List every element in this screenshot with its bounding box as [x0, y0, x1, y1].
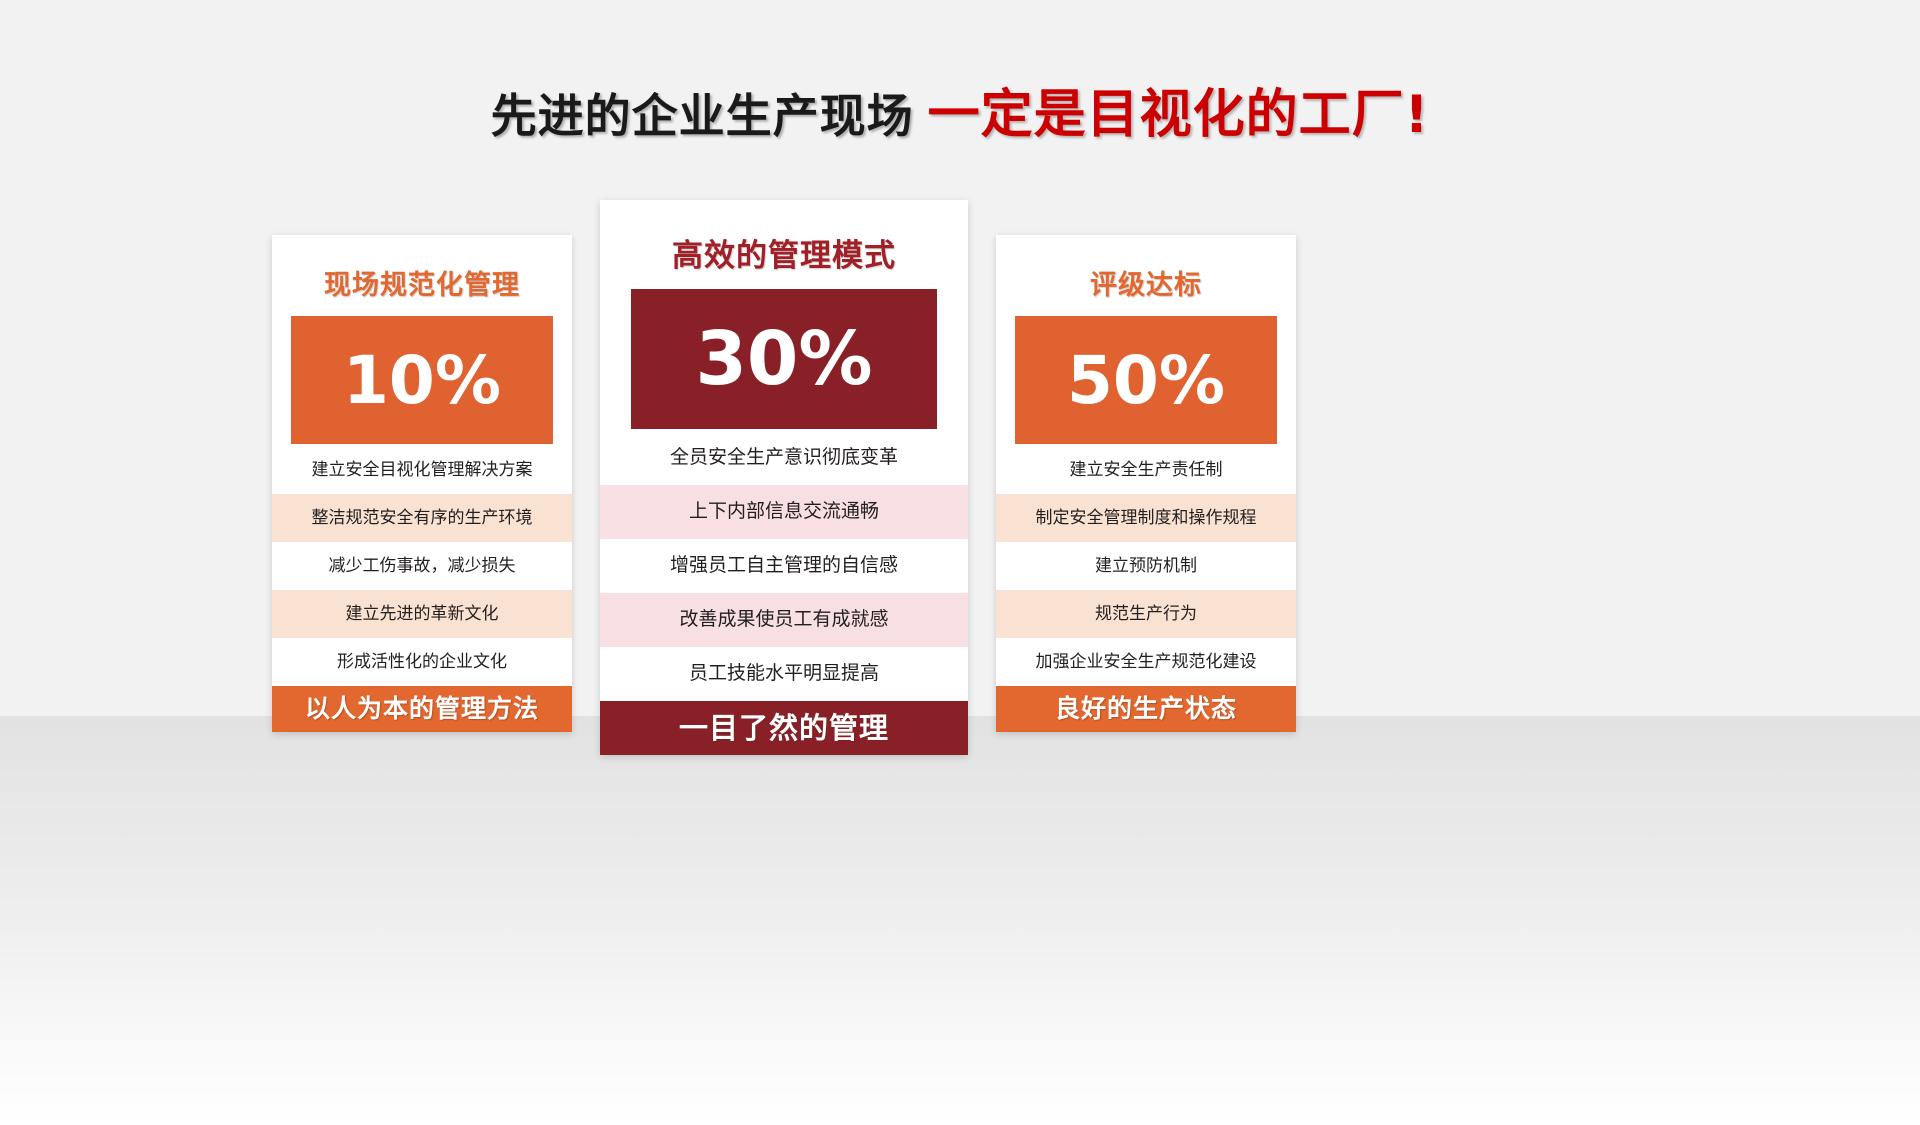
card-right-list: 建立安全生产责任制 制定安全管理制度和操作规程 建立预防机制 规范生产行为 加强…	[996, 446, 1296, 686]
slide-canvas: 先进的企业生产现场一定是目视化的工厂! 现场规范化管理 10% 建立安全目视化管…	[0, 0, 1920, 1125]
card-left[interactable]: 现场规范化管理 10% 建立安全目视化管理解决方案 整洁规范安全有序的生产环境 …	[272, 235, 572, 732]
list-item[interactable]: 改善成果使员工有成就感	[600, 593, 968, 647]
list-item[interactable]: 全员安全生产意识彻底变革	[600, 431, 968, 485]
card-left-percent-value: 10%	[343, 342, 501, 419]
card-left-list: 建立安全目视化管理解决方案 整洁规范安全有序的生产环境 减少工伤事故，减少损失 …	[272, 446, 572, 686]
list-item[interactable]: 制定安全管理制度和操作规程	[996, 494, 1296, 542]
card-middle-footer: 一目了然的管理	[600, 701, 968, 755]
list-item[interactable]: 上下内部信息交流通畅	[600, 485, 968, 539]
card-right-heading: 评级达标	[996, 235, 1296, 316]
card-middle-percent-value: 30%	[695, 316, 872, 402]
list-item[interactable]: 建立预防机制	[996, 542, 1296, 590]
card-middle-heading: 高效的管理模式	[600, 200, 968, 289]
card-left-heading: 现场规范化管理	[272, 235, 572, 316]
list-item[interactable]: 建立先进的革新文化	[272, 590, 572, 638]
card-middle-list: 全员安全生产意识彻底变革 上下内部信息交流通畅 增强员工自主管理的自信感 改善成…	[600, 431, 968, 701]
list-item[interactable]: 整洁规范安全有序的生产环境	[272, 494, 572, 542]
card-middle-percent-block: 30%	[631, 289, 937, 429]
background-gradient-band	[0, 716, 1920, 1125]
card-middle[interactable]: 高效的管理模式 30% 全员安全生产意识彻底变革 上下内部信息交流通畅 增强员工…	[600, 200, 968, 755]
list-item[interactable]: 建立安全目视化管理解决方案	[272, 446, 572, 494]
list-item[interactable]: 员工技能水平明显提高	[600, 647, 968, 701]
list-item[interactable]: 建立安全生产责任制	[996, 446, 1296, 494]
page-title-highlight: 一定是目视化的工厂!	[928, 85, 1430, 145]
card-left-percent-block: 10%	[291, 316, 553, 444]
page-title: 先进的企业生产现场一定是目视化的工厂!	[0, 72, 1920, 147]
card-left-footer: 以人为本的管理方法	[272, 686, 572, 732]
list-item[interactable]: 规范生产行为	[996, 590, 1296, 638]
card-right-footer: 良好的生产状态	[996, 686, 1296, 732]
list-item[interactable]: 形成活性化的企业文化	[272, 638, 572, 686]
page-title-primary: 先进的企业生产现场	[491, 89, 914, 143]
list-item[interactable]: 加强企业安全生产规范化建设	[996, 638, 1296, 686]
list-item[interactable]: 增强员工自主管理的自信感	[600, 539, 968, 593]
card-right[interactable]: 评级达标 50% 建立安全生产责任制 制定安全管理制度和操作规程 建立预防机制 …	[996, 235, 1296, 732]
card-right-percent-block: 50%	[1015, 316, 1277, 444]
list-item[interactable]: 减少工伤事故，减少损失	[272, 542, 572, 590]
card-right-percent-value: 50%	[1067, 342, 1225, 419]
